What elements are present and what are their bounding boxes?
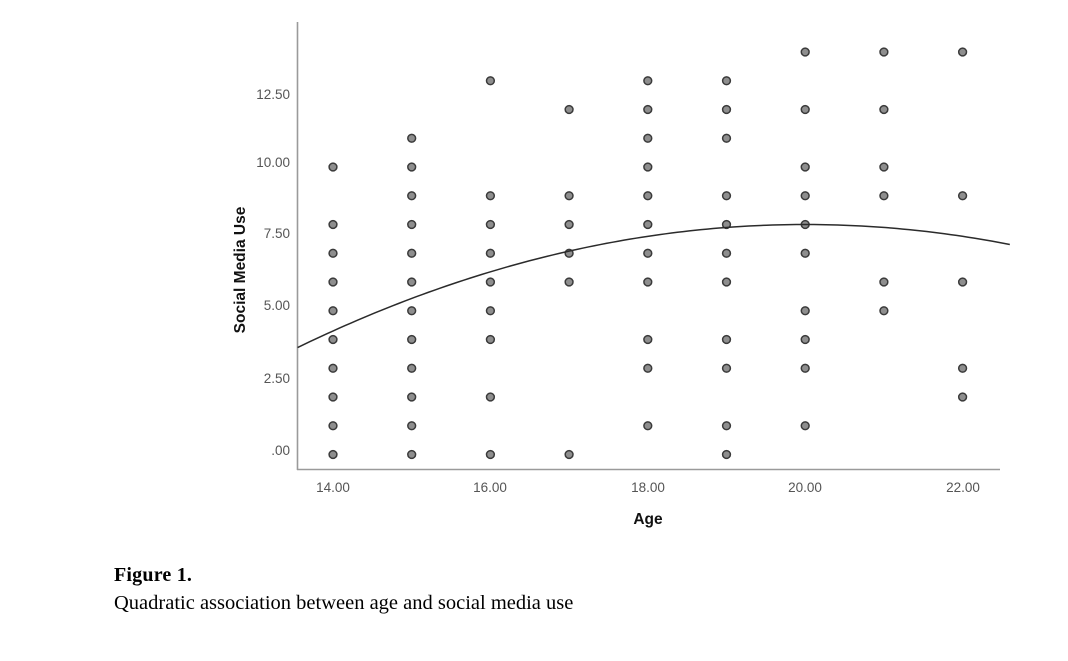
figure-caption-text: Quadratic association between age and so… — [114, 590, 944, 617]
y-tick-label: 5.00 — [264, 298, 290, 313]
data-point — [487, 307, 495, 315]
scatterplot-chart: Social Media Use 12.50 10.00 7.50 5.00 2… — [0, 0, 1068, 545]
y-tick-label: 2.50 — [264, 371, 290, 386]
data-point — [329, 422, 337, 430]
data-point — [959, 393, 967, 401]
data-point — [565, 451, 573, 459]
data-point — [801, 336, 809, 344]
data-point — [487, 192, 495, 200]
data-point — [408, 221, 416, 229]
data-point — [644, 364, 652, 372]
data-point — [801, 307, 809, 315]
data-point — [880, 192, 888, 200]
x-tick-label: 18.00 — [631, 480, 665, 495]
data-point — [723, 422, 731, 430]
data-point — [408, 134, 416, 142]
data-point — [801, 249, 809, 257]
y-tick-label: 10.00 — [256, 155, 290, 170]
data-point — [329, 307, 337, 315]
x-axis-title: Age — [633, 511, 663, 528]
data-points-layer — [329, 48, 966, 458]
x-tick-label: 22.00 — [946, 480, 980, 495]
data-point — [880, 307, 888, 315]
data-point — [408, 163, 416, 171]
x-tick-label: 20.00 — [788, 480, 822, 495]
data-point — [408, 422, 416, 430]
data-point — [880, 48, 888, 56]
figure-container: Social Media Use 12.50 10.00 7.50 5.00 2… — [0, 0, 1068, 661]
data-point — [959, 48, 967, 56]
data-point — [408, 364, 416, 372]
data-point — [408, 249, 416, 257]
data-point — [487, 278, 495, 286]
y-tick-label: 7.50 — [264, 226, 290, 241]
quadratic-fit-line — [298, 225, 1010, 348]
data-point — [801, 48, 809, 56]
chart-canvas: Social Media Use 12.50 10.00 7.50 5.00 2… — [0, 0, 1068, 545]
x-tick-label: 14.00 — [316, 480, 350, 495]
data-point — [329, 221, 337, 229]
data-point — [408, 336, 416, 344]
data-point — [329, 364, 337, 372]
data-point — [801, 163, 809, 171]
data-point — [408, 278, 416, 286]
data-point — [565, 221, 573, 229]
data-point — [801, 106, 809, 114]
data-point — [723, 192, 731, 200]
data-point — [959, 192, 967, 200]
data-point — [723, 451, 731, 459]
data-point — [487, 221, 495, 229]
data-point — [644, 192, 652, 200]
data-point — [329, 278, 337, 286]
data-point — [644, 221, 652, 229]
y-tick-label: .00 — [271, 443, 290, 458]
data-point — [408, 393, 416, 401]
y-axis-title-group: Social Media Use — [232, 206, 249, 333]
data-point — [487, 249, 495, 257]
data-point — [487, 451, 495, 459]
x-tick-label: 16.00 — [473, 480, 507, 495]
data-point — [329, 393, 337, 401]
data-point — [565, 106, 573, 114]
y-tick-label: 12.50 — [256, 87, 290, 102]
data-point — [329, 336, 337, 344]
data-point — [723, 364, 731, 372]
data-point — [723, 134, 731, 142]
data-point — [408, 451, 416, 459]
data-point — [880, 163, 888, 171]
x-tick-labels: 14.00 16.00 18.00 20.00 22.00 — [316, 480, 980, 495]
data-point — [801, 364, 809, 372]
data-point — [487, 336, 495, 344]
data-point — [487, 393, 495, 401]
data-point — [644, 278, 652, 286]
data-point — [644, 106, 652, 114]
data-point — [723, 77, 731, 85]
data-point — [408, 307, 416, 315]
data-point — [408, 192, 416, 200]
data-point — [329, 249, 337, 257]
data-point — [959, 364, 967, 372]
data-point — [959, 278, 967, 286]
data-point — [723, 336, 731, 344]
data-point — [723, 106, 731, 114]
data-point — [644, 163, 652, 171]
data-point — [723, 249, 731, 257]
y-axis-title: Social Media Use — [232, 206, 249, 333]
data-point — [723, 278, 731, 286]
figure-number: Figure 1. — [114, 563, 944, 589]
data-point — [487, 77, 495, 85]
data-point — [644, 249, 652, 257]
y-tick-labels: 12.50 10.00 7.50 5.00 2.50 .00 — [256, 87, 290, 458]
data-point — [565, 278, 573, 286]
data-point — [644, 134, 652, 142]
data-point — [880, 106, 888, 114]
data-point — [565, 192, 573, 200]
figure-caption: Figure 1. Quadratic association between … — [114, 563, 944, 616]
data-point — [329, 451, 337, 459]
data-point — [644, 336, 652, 344]
data-point — [329, 163, 337, 171]
data-point — [880, 278, 888, 286]
data-point — [644, 422, 652, 430]
data-point — [801, 192, 809, 200]
data-point — [801, 422, 809, 430]
data-point — [644, 77, 652, 85]
